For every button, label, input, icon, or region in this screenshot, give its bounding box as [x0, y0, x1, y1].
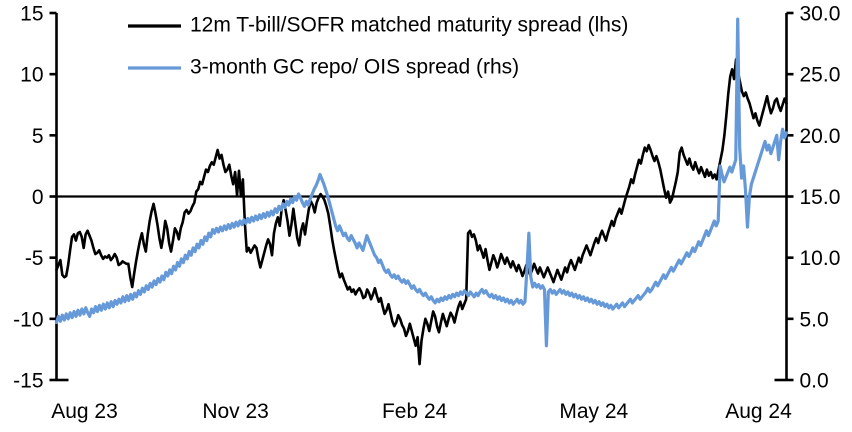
x-axis-tick-label: Nov 23	[202, 400, 269, 423]
left-axis-tick-label: -5	[25, 247, 44, 270]
left-axis-tick-label: 15	[20, 3, 43, 26]
x-axis-tick-label: Aug 24	[725, 400, 792, 423]
x-axis-tick-label: Feb 24	[382, 400, 448, 423]
right-axis-tick-label: 10.0	[800, 247, 841, 270]
left-axis-tick-label: -15	[13, 370, 43, 393]
right-axis-tick-label: 25.0	[800, 64, 841, 87]
left-axis-tick-label: 5	[32, 125, 44, 148]
x-axis-tick-label: Aug 23	[51, 400, 118, 423]
right-axis-tick-label: 5.0	[800, 308, 829, 331]
left-axis-tick-label: 0	[32, 186, 44, 209]
right-axis-tick-label: 15.0	[800, 186, 841, 209]
right-axis-tick-label: 20.0	[800, 125, 841, 148]
right-axis-tick-label: 30.0	[800, 3, 841, 26]
line-chart: 151050-5-10-15 30.025.020.015.010.05.00.…	[0, 0, 852, 432]
legend-label: 3-month GC repo/ OIS spread (rhs)	[190, 56, 519, 79]
left-axis-tick-label: -10	[13, 308, 43, 331]
right-axis-tick-label: 0.0	[800, 370, 829, 393]
legend-label: 12m T-bill/SOFR matched maturity spread …	[190, 14, 628, 37]
left-axis-tick-label: 10	[20, 64, 43, 87]
chart-container: 151050-5-10-15 30.025.020.015.010.05.00.…	[0, 0, 852, 432]
x-axis-tick-label: May 24	[559, 400, 628, 423]
